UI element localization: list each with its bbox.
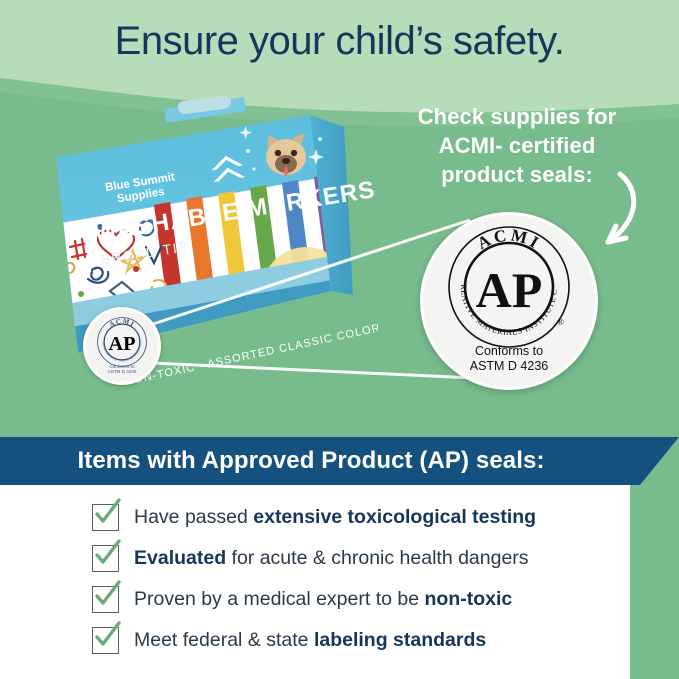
seal-conformance-text: Conforms to ASTM D 4236 bbox=[423, 344, 595, 375]
callout-line-2: ACMI- certified bbox=[372, 131, 662, 160]
checklist-item: Meet federal & state labeling standards bbox=[92, 620, 612, 660]
infographic-canvas: Ensure your child’s safety. bbox=[0, 0, 679, 679]
svg-text:ACMI: ACMI bbox=[474, 225, 544, 253]
label-plain-after: for acute & chronic health dangers bbox=[226, 547, 528, 569]
checklist-item: Evaluated for acute & chronic health dan… bbox=[92, 538, 612, 578]
acmi-ap-seal-small: ACMI ART & CREATIVE MATERIALS INSTITUTE … bbox=[83, 307, 161, 385]
checkmark-icon bbox=[92, 627, 119, 654]
section-banner: Items with Approved Product (AP) seals: bbox=[0, 437, 679, 485]
callout-line-3: product seals: bbox=[372, 160, 662, 189]
callout-text: Check supplies for ACMI- certified produ… bbox=[372, 102, 662, 189]
label-plain-before: Meet federal & state bbox=[134, 629, 314, 651]
label-plain-before: Proven by a medical expert to be bbox=[134, 588, 425, 610]
checkmark-icon bbox=[92, 504, 119, 531]
seal-small-conformance: Conforms to ASTM D 4236 bbox=[86, 364, 158, 375]
label-bold: labeling standards bbox=[314, 629, 486, 651]
label-plain-before: Have passed bbox=[134, 506, 253, 528]
callout-line-1: Check supplies for bbox=[372, 102, 662, 131]
section-banner-title: Items with Approved Product (AP) seals: bbox=[0, 437, 622, 485]
seal-conforms-line1: Conforms to bbox=[423, 344, 595, 360]
seal-conforms-line2: ASTM D 4236 bbox=[423, 359, 595, 375]
seal-top-arc-text: ACMI bbox=[474, 225, 544, 253]
checklist-item-label: Proven by a medical expert to be non-tox… bbox=[134, 588, 512, 611]
svg-text:AP: AP bbox=[108, 333, 135, 355]
checklist-item-label: Meet federal & state labeling standards bbox=[134, 629, 486, 652]
acmi-ap-seal-large: ACMI ART & CREATIVE MATERIALS INSTITUTE … bbox=[420, 212, 598, 390]
label-bold: extensive toxicological testing bbox=[253, 506, 536, 528]
ap-seal-logo: ACMI ART & CREATIVE MATERIALS INSTITUTE … bbox=[445, 223, 573, 351]
label-bold: Evaluated bbox=[134, 547, 226, 569]
page-title: Ensure your child’s safety. bbox=[0, 18, 679, 64]
checklist-item-label: Evaluated for acute & chronic health dan… bbox=[134, 547, 529, 570]
ap-seal-logo-small: ACMI ART & CREATIVE MATERIALS INSTITUTE … bbox=[96, 316, 148, 368]
checklist-item: Have passed extensive toxicological test… bbox=[92, 497, 612, 537]
checkmark-icon bbox=[92, 586, 119, 613]
seal-small-line2: ASTM D 4236 bbox=[86, 369, 158, 375]
seal-center-text: AP bbox=[476, 262, 543, 318]
benefits-checklist: Have passed extensive toxicological test… bbox=[92, 497, 612, 661]
seal-registered-mark: ® bbox=[557, 317, 564, 327]
label-bold: non-toxic bbox=[425, 588, 513, 610]
checkmark-icon bbox=[92, 545, 119, 572]
checklist-item-label: Have passed extensive toxicological test… bbox=[134, 506, 536, 529]
checklist-item: Proven by a medical expert to be non-tox… bbox=[92, 579, 612, 619]
